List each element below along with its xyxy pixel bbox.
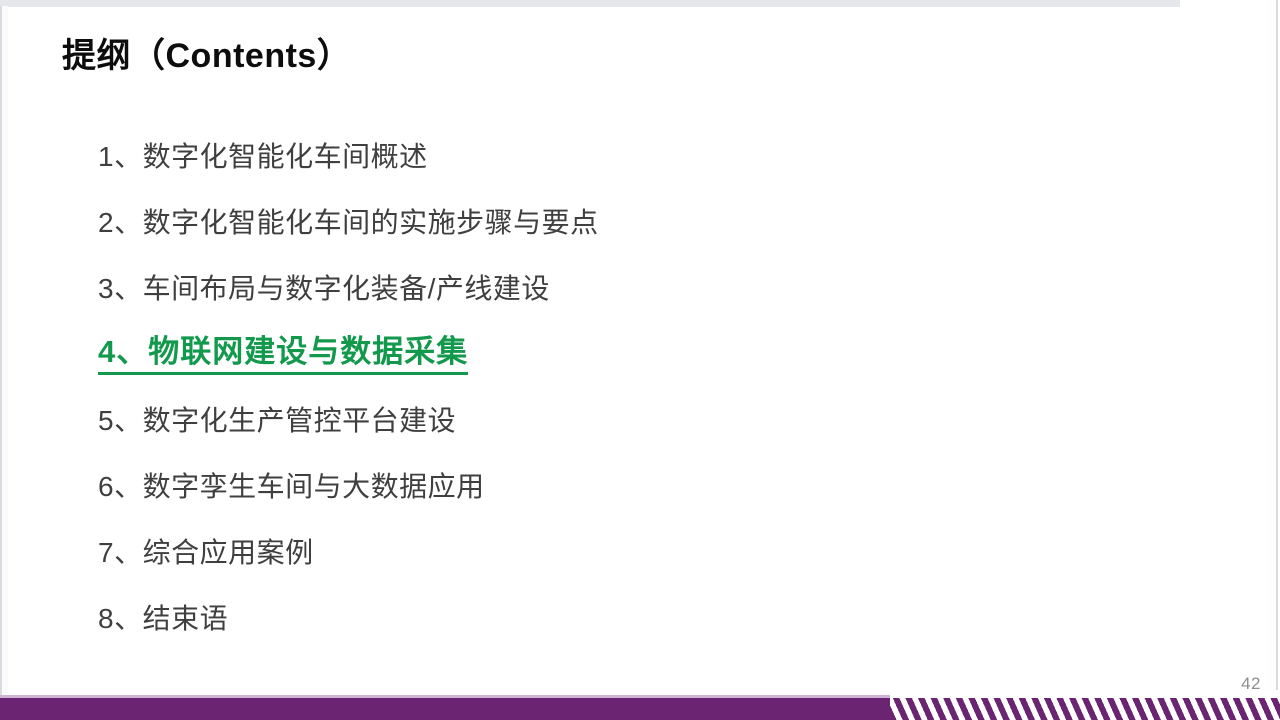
contents-item-label: 6、数字孪生车间与大数据应用 [98,473,485,501]
viewer-right-inner-edge [1268,0,1276,690]
footer-purple-bar [0,698,890,720]
contents-list: 1、数字化智能化车间概述 2、数字化智能化车间的实施步骤与要点 3、车间布局与数… [98,124,1098,652]
contents-item-label: 2、数字化智能化车间的实施步骤与要点 [98,209,599,237]
footer-striped-pattern [890,698,1280,720]
contents-item-label: 4、物联网建设与数据采集 [98,336,468,375]
contents-item-label: 7、综合应用案例 [98,539,314,567]
contents-item-label: 3、车间布局与数字化装备/产线建设 [98,275,550,303]
contents-item-8[interactable]: 8、结束语 [98,586,1098,652]
contents-item-label: 8、结束语 [98,605,228,633]
contents-item-label: 5、数字化生产管控平台建设 [98,407,456,435]
contents-item-6[interactable]: 6、数字孪生车间与大数据应用 [98,454,1098,520]
contents-item-label: 1、数字化智能化车间概述 [98,143,428,171]
page-number: 42 [1241,674,1261,694]
viewer-top-band [0,0,1180,7]
contents-item-5[interactable]: 5、数字化生产管控平台建设 [98,388,1098,454]
contents-item-1[interactable]: 1、数字化智能化车间概述 [98,124,1098,190]
contents-item-7[interactable]: 7、综合应用案例 [98,520,1098,586]
viewer-left-edge [0,6,2,700]
presentation-slide: 提纲（Contents） 1、数字化智能化车间概述 2、数字化智能化车间的实施步… [0,0,1280,720]
viewer-right-edge [1276,0,1278,690]
viewer-left-inner-edge [2,6,8,700]
contents-item-4-active[interactable]: 4、物联网建设与数据采集 [98,322,1098,388]
contents-item-2[interactable]: 2、数字化智能化车间的实施步骤与要点 [98,190,1098,256]
contents-item-3[interactable]: 3、车间布局与数字化装备/产线建设 [98,256,1098,322]
page-title: 提纲（Contents） [62,28,351,77]
